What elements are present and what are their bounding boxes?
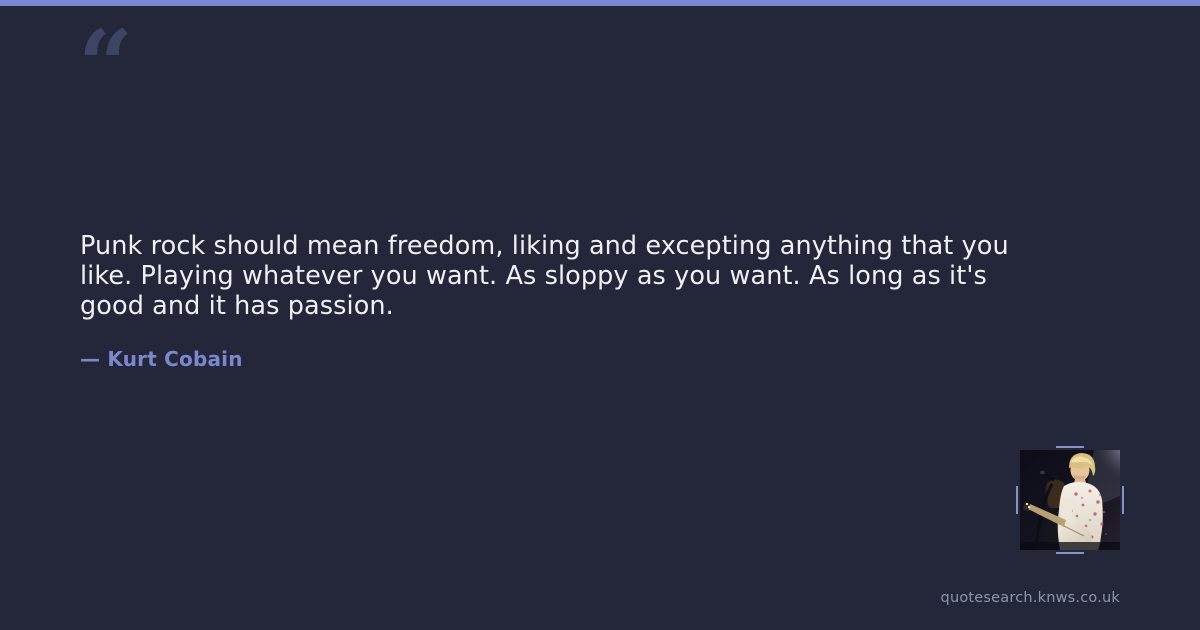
- quote-block: Punk rock should mean freedom, liking an…: [80, 231, 1010, 321]
- author-photo: [1020, 450, 1120, 550]
- photo-tick-bottom: [1056, 552, 1084, 554]
- top-accent-bar: [0, 0, 1200, 6]
- author-attribution-label: — Kurt Cobain: [80, 347, 243, 371]
- quote-text: Punk rock should mean freedom, liking an…: [80, 231, 1010, 321]
- site-url-label: quotesearch.knws.co.uk: [941, 590, 1120, 606]
- quote-card: “ Punk rock should mean freedom, liking …: [0, 0, 1200, 630]
- photo-tick-right: [1122, 486, 1124, 514]
- author-photo-image: [1020, 450, 1120, 550]
- photo-tick-left: [1016, 486, 1018, 514]
- photo-tick-top: [1056, 446, 1084, 448]
- quote-author: — Kurt Cobain: [80, 347, 243, 371]
- open-quote-icon: “: [78, 18, 131, 114]
